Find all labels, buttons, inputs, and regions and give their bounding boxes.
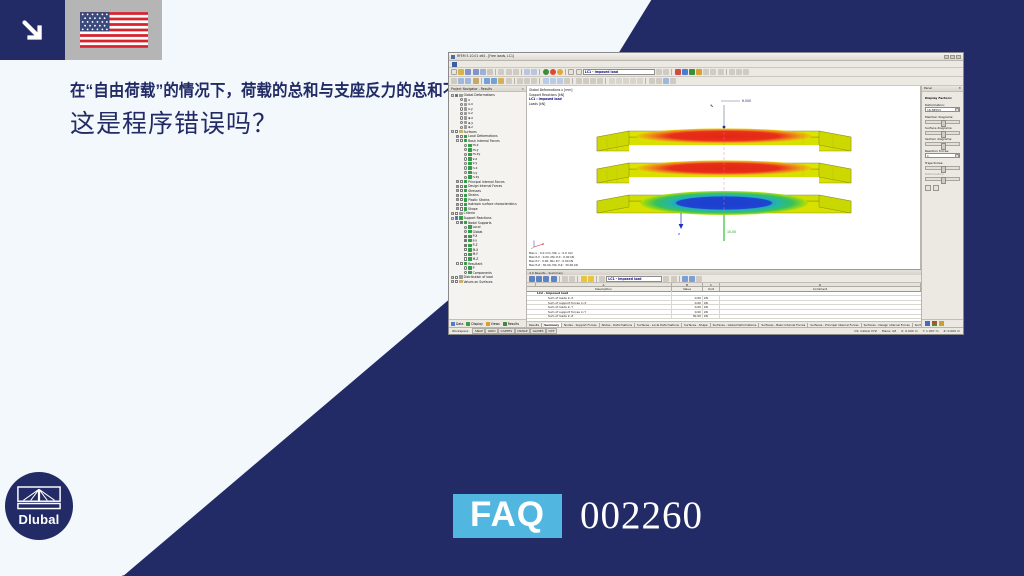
- tree-node-icon: [468, 148, 471, 151]
- tree-node-icon: [464, 139, 467, 142]
- nav-tree-item-label: u: [468, 98, 470, 102]
- panel-slider[interactable]: [925, 120, 960, 124]
- radio-toggle[interactable]: [464, 157, 467, 160]
- table-print-button[interactable]: [562, 276, 568, 282]
- minimize-button[interactable]: [944, 55, 949, 59]
- radio-toggle[interactable]: [464, 162, 467, 165]
- table-load-case-combo[interactable]: LC1 - Imposed load: [606, 276, 662, 282]
- rotate-button[interactable]: [743, 69, 749, 75]
- save-button[interactable]: [465, 69, 471, 75]
- tool-grid[interactable]: [531, 78, 537, 84]
- nav-tree-item-label: m-xy: [473, 152, 481, 156]
- panel-chart-icon[interactable]: [939, 321, 944, 326]
- tree-spacer: [456, 103, 459, 106]
- tool-hinge[interactable]: [506, 78, 512, 84]
- panel-footer[interactable]: [922, 319, 963, 327]
- tree-spacer: [460, 244, 463, 247]
- load-case-combo[interactable]: LC1 - Imposed load: [583, 69, 655, 75]
- spinner-icon[interactable]: [955, 154, 959, 158]
- svg-text:Z: Z: [678, 232, 680, 236]
- nav-tree-item-label: Surfaces: [464, 130, 477, 134]
- table-color-button[interactable]: [588, 276, 594, 282]
- results-button[interactable]: [557, 69, 563, 75]
- status-bar: Workspace SNAPGRIDCARTESOSNAPGLINESDXF C…: [449, 327, 963, 334]
- panel-color-icon[interactable]: [925, 321, 930, 326]
- window-titlebar: RFEM 5.10.01 x64 - [Free loads, LC1]: [449, 53, 963, 61]
- tree-spacer: [460, 230, 463, 233]
- tool-free-load[interactable]: [564, 78, 570, 84]
- nav-tree-item-label: Plastic Strains: [468, 198, 489, 202]
- checkbox-toggle[interactable]: [455, 216, 458, 219]
- arrow-down-right-icon: [18, 15, 48, 45]
- panel-group-label: Member diagrams:: [925, 115, 960, 119]
- tree-node-icon: [464, 103, 467, 106]
- checkbox-toggle[interactable]: [455, 94, 458, 97]
- tree-node-icon: [468, 271, 471, 274]
- tool-info[interactable]: [597, 78, 603, 84]
- results-table-toolbar[interactable]: LC1 - Imposed load: [527, 275, 921, 283]
- zoom-button[interactable]: [729, 69, 735, 75]
- view-button-b[interactable]: [710, 69, 716, 75]
- checkbox-toggle[interactable]: [455, 212, 458, 215]
- checkbox-toggle[interactable]: [460, 135, 463, 138]
- tree-node-icon: [459, 94, 462, 97]
- navigator-tab-label: Display: [471, 322, 482, 326]
- status-indicator[interactable]: OSNAP: [515, 328, 530, 334]
- status-indicator[interactable]: GLINES: [530, 328, 546, 334]
- spinner-icon[interactable]: [955, 108, 959, 112]
- navigator-tab[interactable]: Data: [451, 322, 463, 326]
- tree-node-icon: [464, 116, 467, 119]
- tool-load-nodal[interactable]: [543, 78, 549, 84]
- render-button[interactable]: [568, 69, 574, 75]
- tree-node-icon: [464, 121, 467, 124]
- tool-view-xz[interactable]: [623, 78, 629, 84]
- checkbox-toggle[interactable]: [464, 253, 467, 256]
- tool-member[interactable]: [473, 78, 479, 84]
- panel-group-label: Deformation:: [925, 103, 960, 107]
- status-coordinate: Y: 1.907 m: [923, 329, 939, 333]
- checkbox-toggle[interactable]: [460, 198, 463, 201]
- nav-tree-item-label: M-X: [473, 248, 479, 252]
- panel-action-icons[interactable]: [925, 185, 960, 191]
- tree-node-icon: [468, 175, 471, 178]
- tree-spacer: [460, 271, 463, 274]
- panel-spin-field[interactable]: 1: [925, 153, 960, 158]
- paste-button[interactable]: [513, 69, 519, 75]
- tool-extra-b[interactable]: [656, 78, 662, 84]
- table-row[interactable]: Sum of loads in Z30.00kN: [527, 315, 921, 320]
- new-button[interactable]: [451, 69, 457, 75]
- checkbox-toggle[interactable]: [455, 130, 458, 133]
- application-body: Project Navigator - Results ✕ -Global De…: [449, 86, 963, 327]
- toolbar-main[interactable]: LC1 - Imposed load: [449, 68, 963, 77]
- radio-toggle[interactable]: [460, 107, 463, 110]
- tree-node-icon: [468, 230, 471, 233]
- checkbox-toggle[interactable]: [464, 244, 467, 247]
- panel-settings-icon[interactable]: [933, 185, 939, 191]
- expand-icon[interactable]: +: [456, 135, 459, 138]
- redo-button[interactable]: [531, 69, 537, 75]
- stop-button[interactable]: [550, 69, 556, 75]
- radio-toggle[interactable]: [460, 126, 463, 129]
- tree-node-icon: [468, 144, 471, 147]
- table-edit-button[interactable]: [682, 276, 688, 282]
- status-indicator[interactable]: CARTES: [498, 328, 515, 334]
- table-view-button[interactable]: [689, 276, 695, 282]
- status-indicator[interactable]: GRID: [485, 328, 498, 334]
- table-highlight-button[interactable]: [581, 276, 587, 282]
- nav-tree-item-label: u-y: [468, 107, 473, 111]
- tree-node-icon: [464, 221, 467, 224]
- radio-toggle[interactable]: [464, 266, 467, 269]
- navigator-tabs[interactable]: DataDisplayViewsResults: [449, 319, 526, 327]
- tool-support[interactable]: [498, 78, 504, 84]
- results-tab[interactable]: Surfaces - Design Internal Forces: [864, 323, 913, 327]
- data-icon: [451, 322, 455, 326]
- tree-node-icon: [464, 198, 467, 201]
- results-tab[interactable]: Surfaces - Principal Internal Forces: [810, 323, 861, 327]
- save-all-button[interactable]: [473, 69, 479, 75]
- radio-toggle[interactable]: [464, 166, 467, 169]
- table-help-button[interactable]: [696, 276, 702, 282]
- calculate-button[interactable]: [543, 69, 549, 75]
- nav-tree-item-label: M-Y: [473, 252, 478, 256]
- nav-tree-item-label: n-x: [473, 166, 478, 170]
- tool-extra-a[interactable]: [649, 78, 655, 84]
- nav-tree-item-label: Components: [473, 271, 492, 275]
- results-tab[interactable]: Nodes - Support Forces: [564, 323, 600, 327]
- results-tab[interactable]: Surfaces - Local Deformations: [637, 323, 682, 327]
- tree-node-icon: [464, 189, 467, 192]
- collapse-icon[interactable]: -: [456, 139, 459, 142]
- checkbox-toggle[interactable]: [464, 248, 467, 251]
- checkbox-toggle[interactable]: [464, 235, 467, 238]
- nav-tree-item-label: φ-y: [468, 121, 473, 125]
- cell-unit: kN: [703, 310, 720, 314]
- tool-extra-c[interactable]: [663, 78, 669, 84]
- status-plane: Plane: XZ: [882, 329, 896, 333]
- view-button-a[interactable]: [703, 69, 709, 75]
- results-table-panel: 4.0 Results - Summary LC1 - Imposed: [527, 269, 921, 327]
- table-prev-button[interactable]: [663, 276, 669, 282]
- tree-spacer: [460, 248, 463, 251]
- close-button[interactable]: [956, 55, 961, 59]
- tree-node-icon: [464, 203, 467, 206]
- nav-tree-item-label: P-Z: [473, 243, 478, 247]
- tool-dimension[interactable]: [517, 78, 523, 84]
- navigator-tab-label: Data: [456, 322, 463, 326]
- toolbar-separator: [726, 69, 727, 75]
- radio-toggle[interactable]: [464, 226, 467, 229]
- results-tab[interactable]: Nodes - Deformations: [602, 323, 635, 327]
- display-panel[interactable]: Panel ✕ Display Factors: Deformation:16.…: [921, 86, 963, 327]
- navigator-tab[interactable]: Views: [486, 322, 500, 326]
- tree-spacer: [460, 235, 463, 238]
- expand-icon[interactable]: +: [456, 189, 459, 192]
- nav-tree-item-label: Nodal Supports: [468, 221, 491, 225]
- nav-tree-item-label: Values on Surfaces: [464, 280, 493, 284]
- panel-group-label: Trajectories:: [925, 161, 960, 165]
- table-sort-button[interactable]: [543, 276, 549, 282]
- combo-prev-button[interactable]: [656, 69, 662, 75]
- radio-toggle[interactable]: [464, 144, 467, 147]
- model-viewport[interactable]: Global Deformations u [mm]Support Reacti…: [527, 86, 921, 269]
- open-button[interactable]: [458, 69, 464, 75]
- navigator-close-icon[interactable]: ✕: [521, 87, 524, 91]
- nav-tree-item-label: Strains: [468, 193, 479, 197]
- panel-slider[interactable]: [925, 142, 960, 146]
- toolbar-separator: [495, 69, 496, 75]
- tree-node-icon: [464, 135, 467, 138]
- radio-toggle[interactable]: [464, 148, 467, 151]
- work-column: Global Deformations u [mm]Support Reacti…: [527, 86, 921, 327]
- wireframe-button[interactable]: [576, 69, 582, 75]
- navigator-tab[interactable]: Results: [503, 322, 519, 326]
- tree-spacer: [460, 157, 463, 160]
- expand-icon[interactable]: +: [456, 203, 459, 206]
- nav-tree-item-label: Stresses: [468, 189, 481, 193]
- collapse-icon[interactable]: -: [451, 94, 454, 97]
- colorscale-button[interactable]: [689, 69, 695, 75]
- checkbox-toggle[interactable]: [464, 239, 467, 242]
- tree-node-icon: [459, 212, 462, 215]
- radio-toggle[interactable]: [464, 171, 467, 174]
- table-export-button[interactable]: [551, 276, 557, 282]
- radio-toggle[interactable]: [460, 112, 463, 115]
- tree-node-icon: [459, 280, 462, 283]
- svg-text:10.00: 10.00: [727, 230, 736, 234]
- toolbar-separator: [539, 69, 540, 75]
- checkbox-toggle[interactable]: [455, 280, 458, 283]
- tree-spacer: [456, 117, 459, 120]
- view-button-c[interactable]: [718, 69, 724, 75]
- isoband-button[interactable]: [675, 69, 681, 75]
- radio-toggle[interactable]: [460, 121, 463, 124]
- tree-spacer: [456, 98, 459, 101]
- toolbar-separator: [559, 276, 560, 282]
- printout-button[interactable]: [487, 69, 493, 75]
- print-button[interactable]: [480, 69, 486, 75]
- tool-mesh[interactable]: [576, 78, 582, 84]
- undo-button[interactable]: [524, 69, 530, 75]
- tree-node-icon: [468, 248, 471, 251]
- nav-tree-item-label: Support Reactions: [464, 216, 492, 220]
- tool-view-iso[interactable]: [609, 78, 615, 84]
- tool-refine[interactable]: [583, 78, 589, 84]
- checkbox-toggle[interactable]: [460, 203, 463, 206]
- language-flag-badge: [65, 0, 162, 60]
- project-navigator[interactable]: Project Navigator - Results ✕ -Global De…: [449, 86, 527, 327]
- nav-tree-item-label: v-y: [473, 161, 478, 165]
- nav-tree-item-label: n-y: [473, 171, 478, 175]
- nav-tree-item-label: Shape: [468, 207, 478, 211]
- status-right: CS: Global XYZPlane: XZX: 0.000 mY: 1.90…: [854, 329, 960, 333]
- tree-node-icon: [468, 157, 471, 160]
- col-letter-a: A: [536, 283, 672, 286]
- results-tab[interactable]: Surfaces - Global Deformations: [713, 323, 760, 327]
- radio-toggle[interactable]: [460, 98, 463, 101]
- viewport-legend: Global Deformations u [mm]Support Reacti…: [529, 88, 573, 107]
- checkbox-toggle[interactable]: [460, 194, 463, 197]
- radio-toggle[interactable]: [464, 153, 467, 156]
- nav-tree-item-label: Criteria: [464, 211, 475, 215]
- results-tab[interactable]: Surfaces - Shape: [684, 323, 711, 327]
- results-tab[interactable]: Surfaces - Basic Internal Forces: [761, 323, 808, 327]
- tree-node-icon: [468, 166, 471, 169]
- nav-tree-item[interactable]: +Values on Surfaces: [450, 279, 526, 284]
- toolbar-separator: [577, 276, 578, 282]
- results-tab[interactable]: Summary: [544, 323, 562, 327]
- svg-text:6.000: 6.000: [742, 99, 751, 103]
- table-grid-button[interactable]: [529, 276, 535, 282]
- tree-node-icon: [459, 275, 462, 278]
- cell-unit: kN: [703, 301, 720, 305]
- checkbox-toggle[interactable]: [460, 139, 463, 142]
- tool-line[interactable]: [465, 78, 471, 84]
- table-settings-button[interactable]: [599, 276, 605, 282]
- expand-icon[interactable]: +: [451, 280, 454, 283]
- tool-select[interactable]: [451, 78, 457, 84]
- tree-node-icon: [464, 185, 467, 188]
- expand-icon[interactable]: +: [456, 194, 459, 197]
- checkbox-toggle[interactable]: [460, 189, 463, 192]
- toolbar-secondary[interactable]: [449, 77, 963, 86]
- expand-icon[interactable]: +: [456, 180, 459, 183]
- expand-icon[interactable]: +: [456, 185, 459, 188]
- tree-node-icon: [464, 207, 467, 210]
- table-next-button[interactable]: [671, 276, 677, 282]
- panel-slider[interactable]: [925, 131, 960, 135]
- tool-node[interactable]: [458, 78, 464, 84]
- panel-groups[interactable]: Deformation:16.38553Member diagrams:Surf…: [925, 103, 960, 182]
- expand-icon[interactable]: +: [451, 212, 454, 215]
- us-flag-icon: [80, 11, 148, 49]
- panel-close-icon[interactable]: ✕: [958, 86, 961, 90]
- isoline-button[interactable]: [682, 69, 688, 75]
- nav-tree-item-label: n-xy: [473, 175, 480, 179]
- checkbox-toggle[interactable]: [460, 221, 463, 224]
- toolbar-separator: [514, 78, 515, 84]
- tool-text[interactable]: [524, 78, 530, 84]
- expand-icon[interactable]: +: [456, 198, 459, 201]
- tool-view-yz[interactable]: [630, 78, 636, 84]
- copy-button[interactable]: [506, 69, 512, 75]
- status-coord-system: CS: Global XYZ: [854, 329, 876, 333]
- deform-button[interactable]: [696, 69, 702, 75]
- cell-description: Sum of loads in Y: [536, 305, 672, 309]
- dlubal-logo: Dlubal: [5, 472, 73, 540]
- table-copy-button[interactable]: [569, 276, 575, 282]
- status-workspace: Workspace: [452, 329, 468, 333]
- checkbox-toggle[interactable]: [455, 276, 458, 279]
- status-indicator[interactable]: SNAP: [472, 328, 485, 334]
- cell-value: 0.00: [672, 310, 703, 314]
- tool-view-xy[interactable]: [616, 78, 622, 84]
- navigator-tab[interactable]: Display: [466, 322, 482, 326]
- toolbar-separator: [481, 78, 482, 84]
- tree-node-icon: [464, 98, 467, 101]
- results-table-grid[interactable]: A B C D Description Value Unit Comment L…: [527, 283, 921, 321]
- status-indicators[interactable]: SNAPGRIDCARTESOSNAPGLINESDXF: [472, 329, 557, 333]
- tree-node-icon: [468, 153, 471, 156]
- expand-icon[interactable]: +: [451, 276, 454, 279]
- tool-view-fit[interactable]: [637, 78, 643, 84]
- radio-toggle[interactable]: [460, 103, 463, 106]
- collapse-icon[interactable]: -: [456, 221, 459, 224]
- maximize-button[interactable]: [950, 55, 955, 59]
- tree-spacer: [456, 121, 459, 124]
- fem-model-graphic: 6.000 ⬉ Z 10.00: [569, 95, 879, 245]
- tree-spacer: [460, 171, 463, 174]
- table-filter-button[interactable]: [536, 276, 542, 282]
- navigator-tree[interactable]: -Global Deformationsuu-xu-yu-zφ-xφ-yφ-z-…: [449, 92, 526, 319]
- expand-icon[interactable]: +: [456, 207, 459, 210]
- window-controls[interactable]: [944, 55, 961, 59]
- radio-toggle[interactable]: [464, 230, 467, 233]
- cell-value: 0.00: [672, 305, 703, 309]
- toolbar-separator: [565, 69, 566, 75]
- nav-tree-item-label: φ-z: [468, 125, 473, 129]
- combo-next-button[interactable]: [663, 69, 669, 75]
- tree-node-icon: [468, 225, 471, 228]
- nav-tree-item-label: m-y: [473, 148, 479, 152]
- panel-slider[interactable]: [925, 166, 960, 170]
- cell-unit: kN: [703, 314, 720, 318]
- nav-tree-item-label: Design Internal Forces: [468, 184, 502, 188]
- tool-extra-d[interactable]: [670, 78, 676, 84]
- toolbar-separator: [539, 78, 540, 84]
- tree-node-icon: [459, 130, 462, 133]
- radio-toggle[interactable]: [464, 271, 467, 274]
- pan-button[interactable]: [736, 69, 742, 75]
- nav-tree-item-label: Distribution of load: [464, 275, 493, 279]
- tool-load-surface[interactable]: [557, 78, 563, 84]
- collapse-icon[interactable]: -: [456, 262, 459, 265]
- collapse-icon[interactable]: -: [451, 217, 454, 220]
- checkbox-toggle[interactable]: [460, 185, 463, 188]
- collapse-icon[interactable]: -: [451, 130, 454, 133]
- results-tab[interactable]: Results: [529, 323, 542, 327]
- tool-check[interactable]: [590, 78, 596, 84]
- tool-solid[interactable]: [491, 78, 497, 84]
- checkbox-toggle[interactable]: [460, 207, 463, 210]
- panel-scale-icon[interactable]: [932, 321, 937, 326]
- tool-surface[interactable]: [484, 78, 490, 84]
- radio-toggle[interactable]: [464, 176, 467, 179]
- panel-spin-field[interactable]: 16.38553: [925, 107, 960, 112]
- status-indicator[interactable]: DXF: [546, 328, 557, 334]
- svg-text:⬉: ⬉: [710, 103, 714, 108]
- cut-button[interactable]: [498, 69, 504, 75]
- radio-toggle[interactable]: [460, 116, 463, 119]
- checkbox-toggle[interactable]: [464, 257, 467, 260]
- nav-tree-item-label: Global: [473, 230, 483, 234]
- load-case-value: LC1 - Imposed load: [585, 70, 618, 74]
- checkbox-toggle[interactable]: [460, 262, 463, 265]
- toolbar-separator: [572, 78, 573, 84]
- navigator-title: Project Navigator - Results: [451, 87, 492, 91]
- table-rows-container[interactable]: LC2 - Imposed loadSum of loads in X0.00k…: [527, 292, 921, 320]
- checkbox-toggle[interactable]: [460, 180, 463, 183]
- panel-edit-icon[interactable]: [925, 185, 931, 191]
- menu-bar[interactable]: [449, 61, 963, 68]
- arrow-badge: [0, 0, 65, 60]
- tree-node-icon: [464, 125, 467, 128]
- panel-body[interactable]: Display Factors: Deformation:16.38553Mem…: [922, 92, 963, 320]
- table-load-case-value: LC1 - Imposed load: [608, 277, 641, 281]
- tool-load-line[interactable]: [550, 78, 556, 84]
